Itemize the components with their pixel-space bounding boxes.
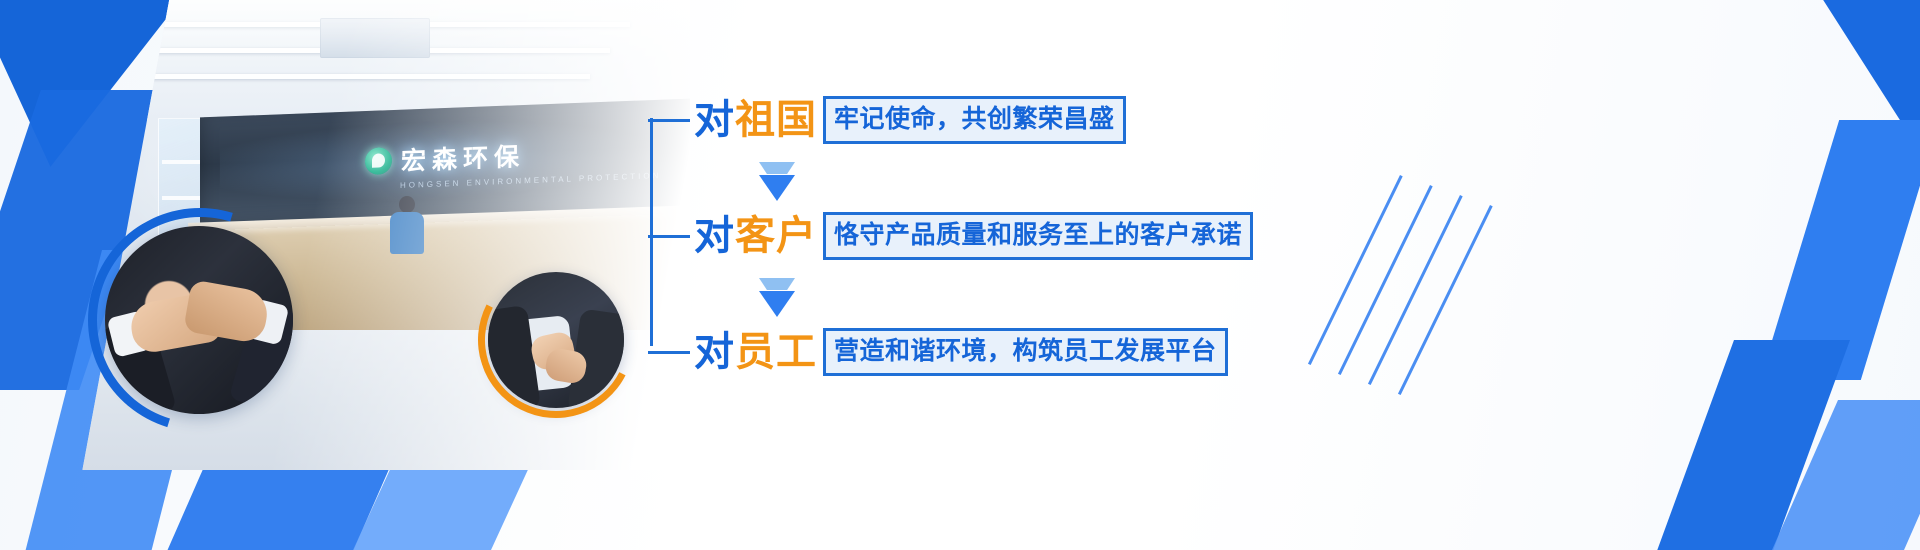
slogan-row-1: 对祖国 牢记使命，共创繁荣昌盛 <box>648 92 1126 148</box>
slogan-lead-keyword: 客户 <box>735 214 817 258</box>
down-arrow-icon <box>754 278 800 318</box>
slogan-lead-2: 对客户 <box>694 216 817 256</box>
arrow-body <box>759 291 795 317</box>
slogan-lead-prefix: 对 <box>694 214 735 258</box>
slogan-tag-3: 营造和谐环境，构筑员工发展平台 <box>823 328 1228 376</box>
connector-tick-1 <box>648 119 690 122</box>
banner-root: 宏森环保 HONGSEN ENVIRONMENTAL PROTECTION <box>0 0 1920 550</box>
slogan-lead-prefix: 对 <box>694 98 735 142</box>
decor-stripe <box>1398 205 1493 395</box>
arrow-cap <box>759 162 795 174</box>
slogan-row-3: 对员工 营造和谐环境，构筑员工发展平台 <box>648 324 1228 380</box>
connector-tick-3 <box>648 351 690 354</box>
slogan-lead-keyword: 员工 <box>735 330 817 374</box>
arrow-body <box>759 175 795 201</box>
slogan-lead-prefix: 对 <box>694 330 735 374</box>
slogan-tag-2: 恪守产品质量和服务至上的客户承诺 <box>823 212 1253 260</box>
slogan-tag-1: 牢记使命，共创繁荣昌盛 <box>823 96 1126 144</box>
arrow-cap <box>759 278 795 290</box>
slogan-block: 对祖国 牢记使命，共创繁荣昌盛 对客户 恪守产品质量和服务至上的客户承诺 对员工… <box>648 70 1368 390</box>
connector-tick-2 <box>648 235 690 238</box>
slogan-lead-keyword: 祖国 <box>735 98 817 142</box>
down-arrow-icon <box>754 162 800 202</box>
slogan-row-2: 对客户 恪守产品质量和服务至上的客户承诺 <box>648 208 1253 264</box>
slogan-lead-1: 对祖国 <box>694 100 817 140</box>
slogan-lead-3: 对员工 <box>694 332 817 372</box>
